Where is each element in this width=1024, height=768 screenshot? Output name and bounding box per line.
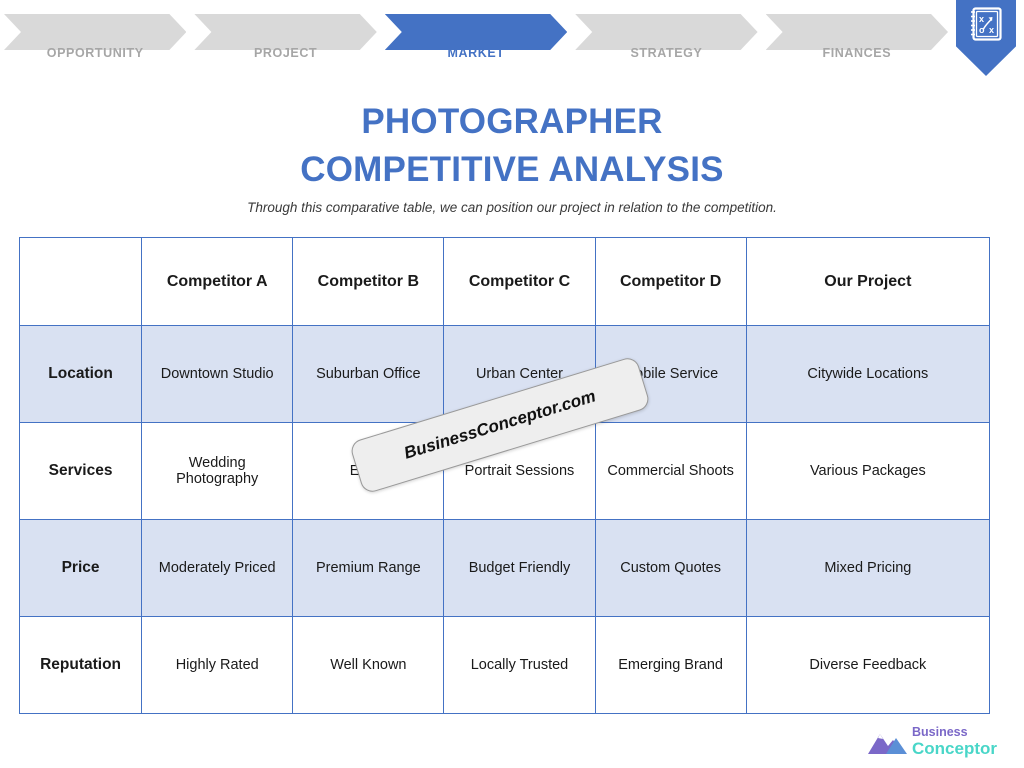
strategy-playbook-icon: x o x <box>967 5 1005 43</box>
nav-chevron-row <box>4 14 948 50</box>
cell-reputation-competitor-c: Locally Trusted <box>444 617 595 714</box>
svg-text:o: o <box>979 25 985 35</box>
nav-label-market[interactable]: MARKET <box>385 46 567 60</box>
cell-price-our-project: Mixed Pricing <box>746 520 989 617</box>
column-header-blank <box>20 238 142 326</box>
nav-label-strategy[interactable]: STRATEGY <box>575 46 757 60</box>
section-badge: x o x <box>956 0 1016 76</box>
logo-text-conceptor: Conceptor <box>912 740 997 757</box>
svg-text:x: x <box>989 25 994 35</box>
logo-text-business: Business <box>912 726 997 739</box>
cell-price-competitor-b: Premium Range <box>293 520 444 617</box>
cell-services-competitor-a: Wedding Photography <box>142 423 293 520</box>
svg-text:x: x <box>979 14 984 24</box>
cell-services-competitor-d: Commercial Shoots <box>595 423 746 520</box>
competitive-analysis-table: Competitor A Competitor B Competitor C C… <box>19 237 990 714</box>
nav-label-project[interactable]: PROJECT <box>194 46 376 60</box>
row-label-location: Location <box>20 326 142 423</box>
nav-chevron-project[interactable] <box>194 14 376 50</box>
cell-price-competitor-d: Custom Quotes <box>595 520 746 617</box>
row-label-price: Price <box>20 520 142 617</box>
cell-services-our-project: Various Packages <box>746 423 989 520</box>
nav-chevron-finances[interactable] <box>766 14 948 50</box>
column-header-competitor-a: Competitor A <box>142 238 293 326</box>
cell-reputation-competitor-a: Highly Rated <box>142 617 293 714</box>
progress-nav: OPPORTUNITY PROJECT MARKET STRATEGY FINA… <box>0 0 1024 76</box>
row-label-reputation: Reputation <box>20 617 142 714</box>
page-title: PHOTOGRAPHER COMPETITIVE ANALYSIS <box>0 98 1024 193</box>
nav-label-row: OPPORTUNITY PROJECT MARKET STRATEGY FINA… <box>4 46 948 60</box>
nav-label-finances[interactable]: FINANCES <box>766 46 948 60</box>
nav-chevron-strategy[interactable] <box>575 14 757 50</box>
brand-logo: Business Conceptor <box>866 724 1006 760</box>
column-header-competitor-d: Competitor D <box>595 238 746 326</box>
page-subtitle: Through this comparative table, we can p… <box>0 200 1024 215</box>
cell-reputation-competitor-b: Well Known <box>293 617 444 714</box>
page-title-line2: COMPETITIVE ANALYSIS <box>0 146 1024 194</box>
logo-wordmark: Business Conceptor <box>912 726 997 757</box>
table-header: Competitor A Competitor B Competitor C C… <box>20 238 990 326</box>
cell-location-competitor-b: Suburban Office <box>293 326 444 423</box>
cell-location-our-project: Citywide Locations <box>746 326 989 423</box>
table-body: Location Downtown Studio Suburban Office… <box>20 326 990 714</box>
table-row-price: Price Moderately Priced Premium Range Bu… <box>20 520 990 617</box>
page-title-line1: PHOTOGRAPHER <box>0 98 1024 146</box>
nav-chevron-opportunity[interactable] <box>4 14 186 50</box>
mountain-logo-icon <box>866 730 918 756</box>
nav-label-opportunity[interactable]: OPPORTUNITY <box>4 46 186 60</box>
table-row-reputation: Reputation Highly Rated Well Known Local… <box>20 617 990 714</box>
cell-price-competitor-c: Budget Friendly <box>444 520 595 617</box>
cell-reputation-our-project: Diverse Feedback <box>746 617 989 714</box>
table-header-row: Competitor A Competitor B Competitor C C… <box>20 238 990 326</box>
column-header-competitor-b: Competitor B <box>293 238 444 326</box>
slide-canvas: OPPORTUNITY PROJECT MARKET STRATEGY FINA… <box>0 0 1024 768</box>
cell-reputation-competitor-d: Emerging Brand <box>595 617 746 714</box>
row-label-services: Services <box>20 423 142 520</box>
column-header-our-project: Our Project <box>746 238 989 326</box>
nav-chevron-market[interactable] <box>385 14 567 50</box>
cell-location-competitor-a: Downtown Studio <box>142 326 293 423</box>
cell-price-competitor-a: Moderately Priced <box>142 520 293 617</box>
column-header-competitor-c: Competitor C <box>444 238 595 326</box>
